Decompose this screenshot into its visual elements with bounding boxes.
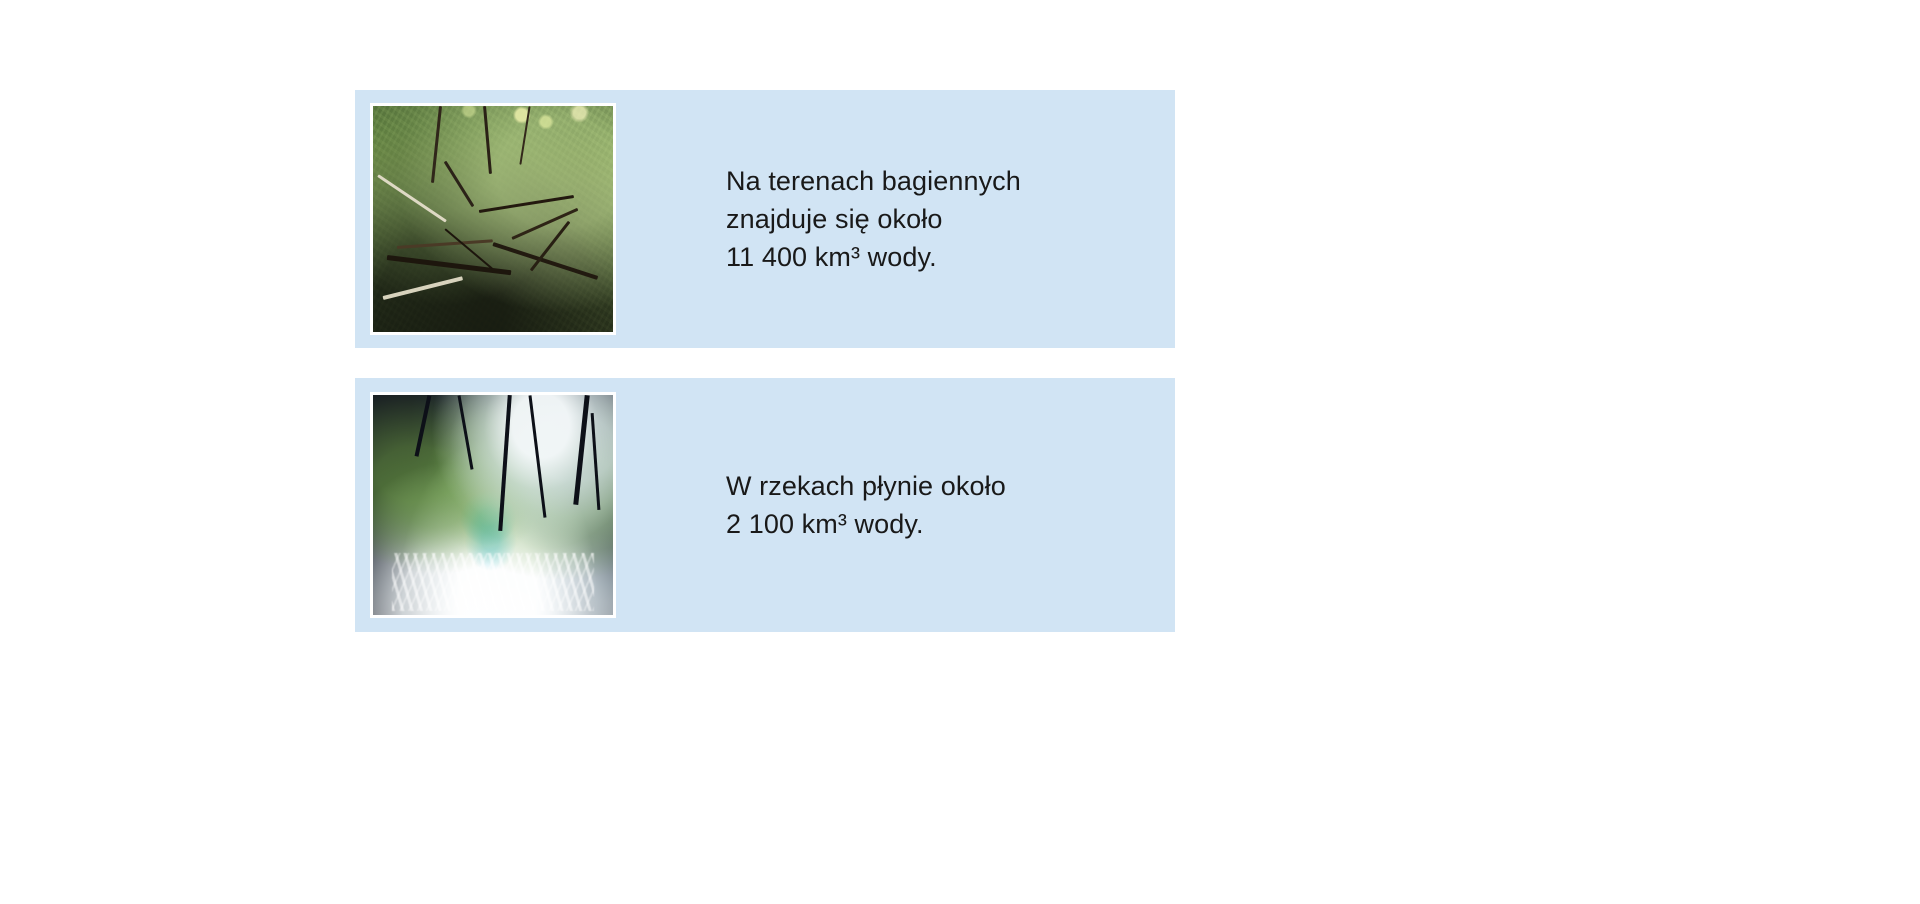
page-root: Na terenach bagiennych znajduje się okoł… xyxy=(0,0,1920,904)
river-caption-line-1: W rzekach płynie około xyxy=(726,467,1151,505)
swamp-caption-line-2: znajduje się około xyxy=(726,200,1151,238)
info-panel-swamp: Na terenach bagiennych znajduje się okoł… xyxy=(355,90,1175,348)
swamp-photo-frame xyxy=(370,103,616,335)
swamp-photo xyxy=(373,106,613,332)
info-panel-river: W rzekach płynie około 2 100 km³ wody. xyxy=(355,378,1175,632)
swamp-caption-line-3: 11 400 km³ wody. xyxy=(726,238,1151,276)
river-photo xyxy=(373,395,613,615)
swamp-caption-line-1: Na terenach bagiennych xyxy=(726,162,1151,200)
river-caption-line-2: 2 100 km³ wody. xyxy=(726,505,1151,543)
swamp-caption: Na terenach bagiennych znajduje się okoł… xyxy=(616,90,1175,348)
river-caption: W rzekach płynie około 2 100 km³ wody. xyxy=(616,378,1175,632)
river-photo-frame xyxy=(370,392,616,618)
